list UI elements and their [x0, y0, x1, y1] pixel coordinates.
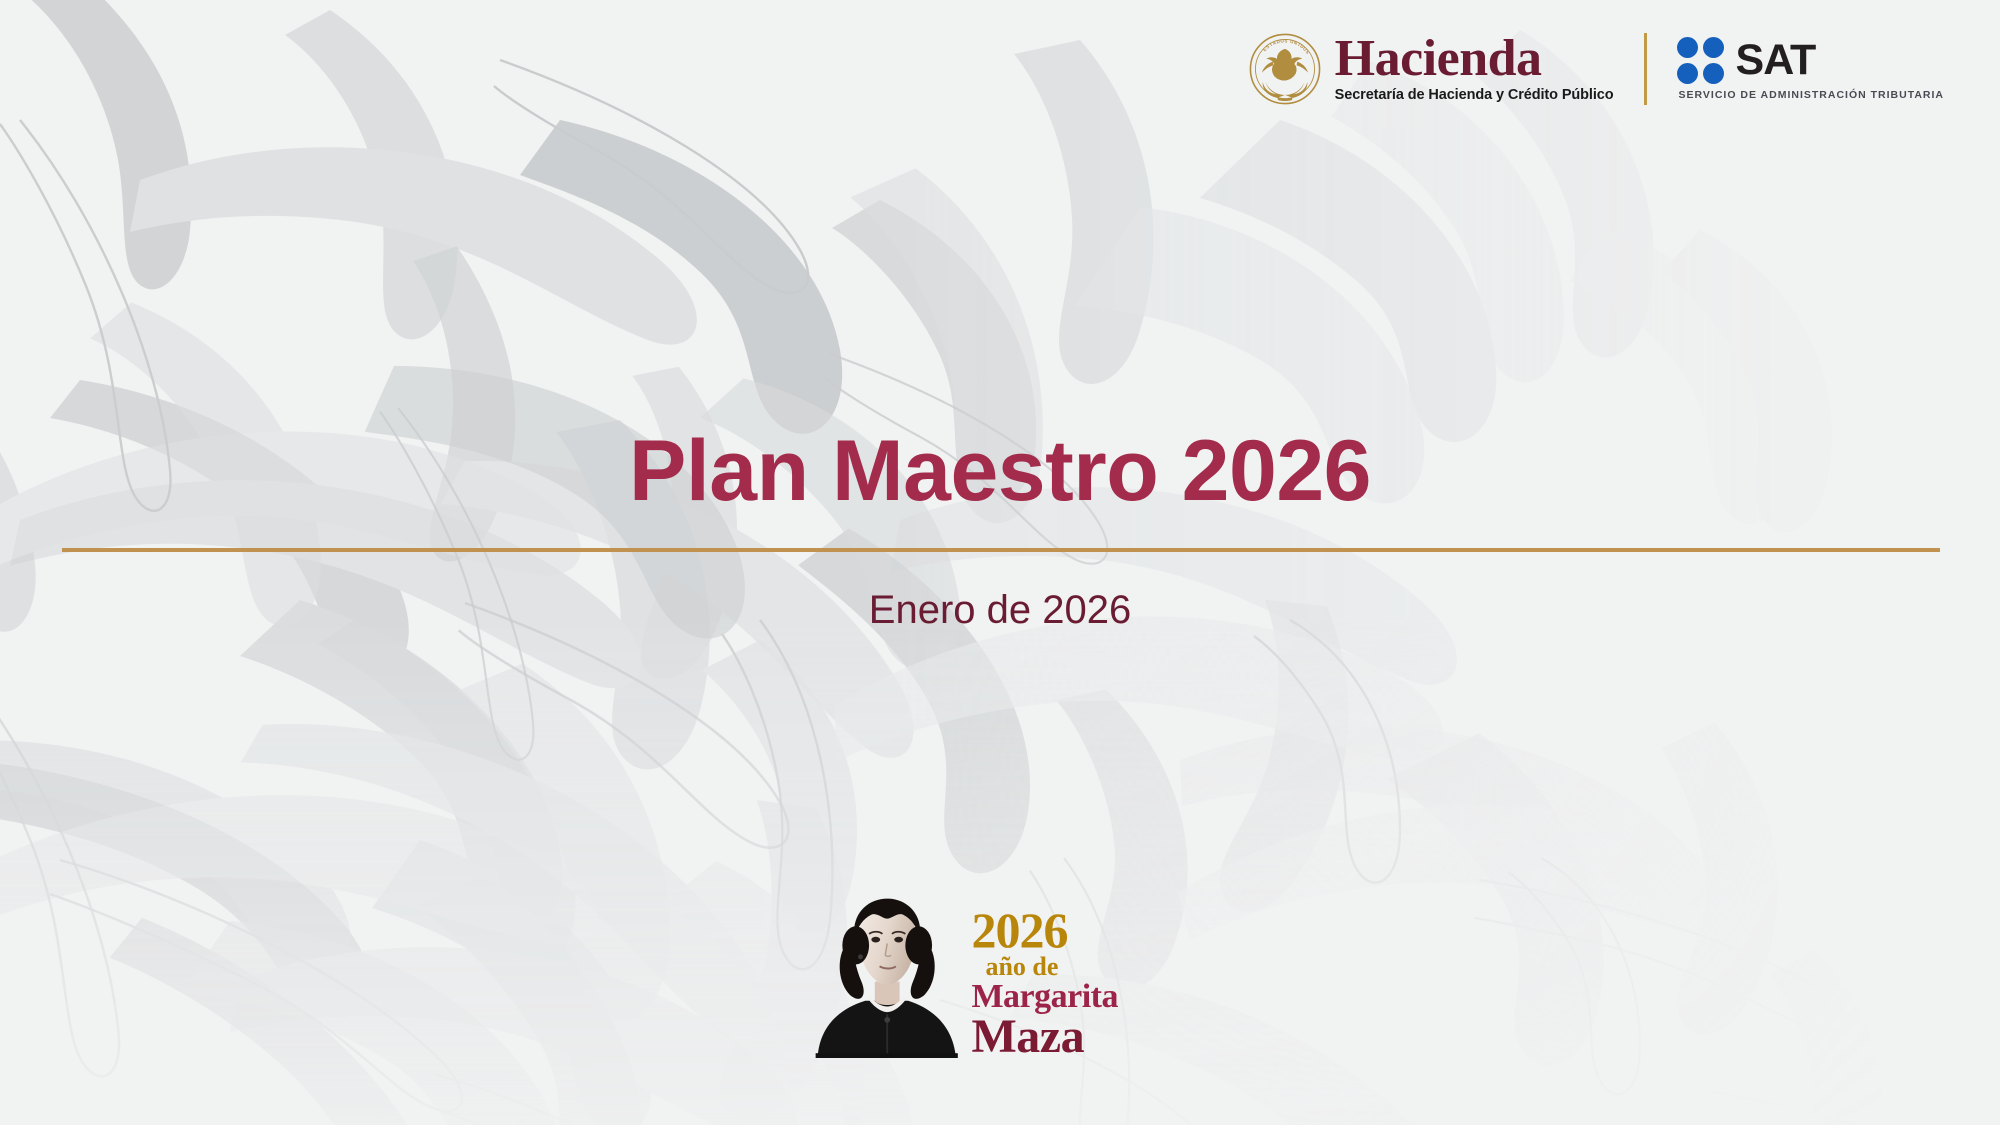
sat-four-dots-icon [1677, 37, 1724, 84]
hacienda-wordmark: Hacienda Secretaría de Hacienda y Crédit… [1335, 35, 1614, 103]
page-subtitle: Enero de 2026 [0, 588, 2000, 633]
margarita-maza-logo: 2026 año de Margarita Maza [808, 886, 1118, 1062]
sat-dot [1703, 63, 1724, 84]
logo-divider [1644, 33, 1647, 105]
hacienda-subtitle: Secretaría de Hacienda y Crédito Público [1335, 87, 1614, 103]
sat-dot [1703, 37, 1724, 58]
mexico-coat-of-arms-icon: E S T A D O S U N I D O S [1249, 33, 1321, 105]
maza-ano-de: año de [985, 953, 1058, 980]
slide-canvas: E S T A D O S U N I D O S [0, 0, 2000, 1125]
title-gold-rule [62, 548, 1940, 552]
maza-last-name: Maza [971, 1014, 1084, 1060]
hacienda-title: Hacienda [1335, 35, 1614, 84]
svg-text:S: S [1284, 38, 1287, 43]
margarita-maza-wordmark: 2026 año de Margarita Maza [971, 907, 1118, 1062]
maza-year: 2026 [971, 907, 1067, 953]
hacienda-logo: E S T A D O S U N I D O S [1249, 28, 1614, 110]
sat-dot [1677, 37, 1698, 58]
margarita-maza-portrait [808, 886, 965, 1062]
page-title: Plan Maestro 2026 [0, 428, 2000, 514]
maza-first-name: Margarita [971, 980, 1118, 1014]
sat-logo: SAT SERVICIO DE ADMINISTRACIÓN TRIBUTARI… [1677, 28, 1944, 110]
sat-logo-row: SAT [1677, 37, 1944, 84]
sat-subtitle: SERVICIO DE ADMINISTRACIÓN TRIBUTARIA [1679, 89, 1944, 101]
sat-dot [1677, 63, 1698, 84]
sat-wordmark: SAT [1736, 39, 1816, 82]
header-logo-bar: E S T A D O S U N I D O S [1249, 28, 1944, 110]
